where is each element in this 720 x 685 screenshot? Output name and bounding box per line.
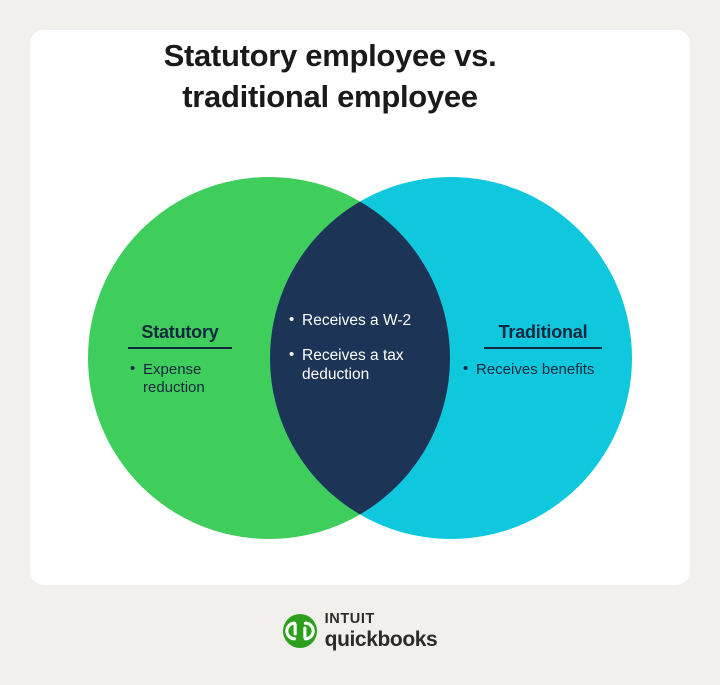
brand-logo: INTUIT quickbooks [0, 612, 720, 650]
venn-group-statutory-bullets: Expense reduction [112, 361, 248, 398]
venn-group-statutory-underline [128, 347, 232, 349]
venn-group-shared: Receives a W-2 Receives a tax deduction [289, 312, 439, 401]
venn-group-statutory: Statutory Expense reduction [112, 322, 248, 398]
infographic-root: Statutory employee vs. traditional emplo… [0, 0, 720, 685]
brand-wordmark-quickbooks: quickbooks [325, 629, 438, 650]
brand-wordmark-intuit: INTUIT [325, 612, 438, 627]
list-item: Receives benefits [463, 361, 623, 379]
list-item: Receives a W-2 [289, 312, 439, 331]
list-item: Expense reduction [130, 361, 248, 398]
venn-group-traditional: Traditional Receives benefits [463, 322, 623, 379]
brand-wordmark: INTUIT quickbooks [325, 612, 438, 650]
quickbooks-qb-icon [283, 614, 317, 648]
venn-group-traditional-label: Traditional [463, 322, 623, 347]
venn-group-shared-bullets: Receives a W-2 Receives a tax deduction [289, 312, 439, 385]
venn-group-traditional-underline [484, 347, 602, 349]
venn-group-traditional-bullets: Receives benefits [463, 361, 623, 379]
venn-group-statutory-label: Statutory [112, 322, 248, 347]
venn-text-layer: Statutory Expense reduction Receives a W… [0, 0, 720, 685]
list-item: Receives a tax deduction [289, 347, 439, 385]
